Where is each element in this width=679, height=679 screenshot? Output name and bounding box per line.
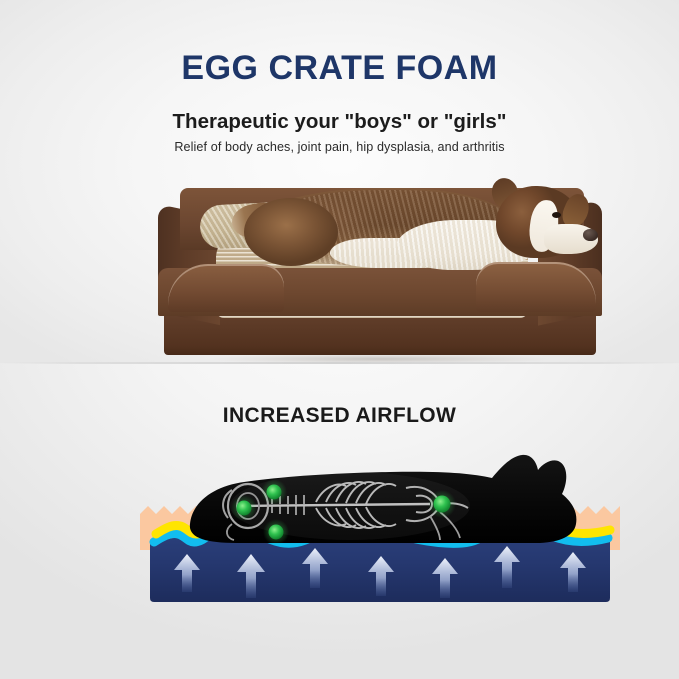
bed-left-bolster-arm xyxy=(168,264,284,312)
dog-silhouette-xray xyxy=(190,455,577,545)
product-infographic: EGG CRATE FOAM Therapeutic your "boys" o… xyxy=(0,0,679,679)
egg-crate-foam-panel: EGG CRATE FOAM Therapeutic your "boys" o… xyxy=(0,0,679,363)
dog-haunch xyxy=(244,198,338,266)
airflow-cross-section-diagram xyxy=(140,446,620,626)
airflow-title: INCREASED AIRFLOW xyxy=(0,404,679,428)
page-title: EGG CRATE FOAM xyxy=(0,49,679,88)
dog-eye xyxy=(552,212,561,218)
product-photo-dog-bed xyxy=(140,176,620,376)
subtitle: Therapeutic your "boys" or "girls" xyxy=(0,110,679,134)
bed-right-bolster-arm xyxy=(476,262,596,312)
increased-airflow-panel: INCREASED AIRFLOW xyxy=(0,363,679,679)
subtitle-caption: Relief of body aches, joint pain, hip dy… xyxy=(0,140,679,154)
dog-nose xyxy=(583,229,598,241)
